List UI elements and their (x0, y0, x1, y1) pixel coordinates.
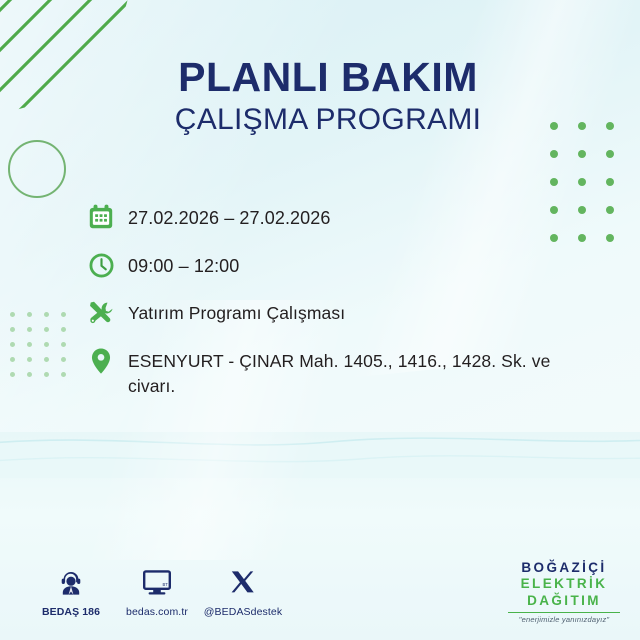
brand-logo: BOĞAZİÇİ ELEKTRİK DAĞITIM "enerjimizle y… (502, 560, 626, 624)
circle-outline-decoration (8, 140, 66, 198)
brand-line-bogazici: BOĞAZİÇİ (502, 560, 626, 576)
brand-line-elektrik: ELEKTRİK (502, 576, 626, 592)
detail-row-location: ESENYURT - ÇINAR Mah. 1405., 1416., 1428… (84, 344, 624, 400)
contact-x[interactable]: @BEDASdestek (200, 564, 286, 618)
detail-date-text: 27.02.2026 – 27.02.2026 (128, 200, 331, 231)
svg-text:BT: BT (163, 582, 169, 587)
detail-work-type-text: Yatırım Programı Çalışması (128, 296, 345, 326)
dot-grid-left-decoration (10, 312, 78, 387)
detail-row-work-type: Yatırım Programı Çalışması (84, 296, 624, 330)
calendar-icon (84, 200, 118, 234)
detail-location-text: ESENYURT - ÇINAR Mah. 1405., 1416., 1428… (128, 344, 598, 400)
detail-row-time: 09:00 – 12:00 (84, 248, 624, 282)
support-agent-icon (28, 564, 114, 602)
page-title: PLANLI BAKIM (0, 56, 640, 99)
tools-icon (84, 296, 118, 330)
contact-phone-label: BEDAŞ 186 (28, 606, 114, 618)
detail-time-text: 09:00 – 12:00 (128, 248, 239, 279)
page-subtitle: ÇALIŞMA PROGRAMI (0, 103, 640, 138)
location-pin-icon (84, 344, 118, 378)
clock-icon (84, 248, 118, 282)
detail-row-date: 27.02.2026 – 27.02.2026 (84, 200, 624, 234)
contact-website-label: bedas.com.tr (114, 606, 200, 618)
contact-website[interactable]: BT bedas.com.tr (114, 564, 200, 618)
contact-x-label: @BEDASdestek (200, 606, 286, 618)
footer-contacts: BEDAŞ 186 BT bedas.com.tr @BEDASdestek (28, 564, 286, 618)
brand-tagline: "enerjimizle yanınızdayız" (502, 615, 626, 624)
footer: BEDAŞ 186 BT bedas.com.tr @BEDASdestek (0, 556, 640, 640)
monitor-icon: BT (114, 564, 200, 602)
brand-divider (508, 612, 620, 613)
page-header: PLANLI BAKIM ÇALIŞMA PROGRAMI (0, 56, 640, 138)
x-twitter-icon (200, 564, 286, 602)
brand-line-dagitim: DAĞITIM (502, 593, 626, 609)
outage-details: 27.02.2026 – 27.02.2026 09:00 – 12:00 Ya… (84, 200, 624, 414)
contact-phone[interactable]: BEDAŞ 186 (28, 564, 114, 618)
